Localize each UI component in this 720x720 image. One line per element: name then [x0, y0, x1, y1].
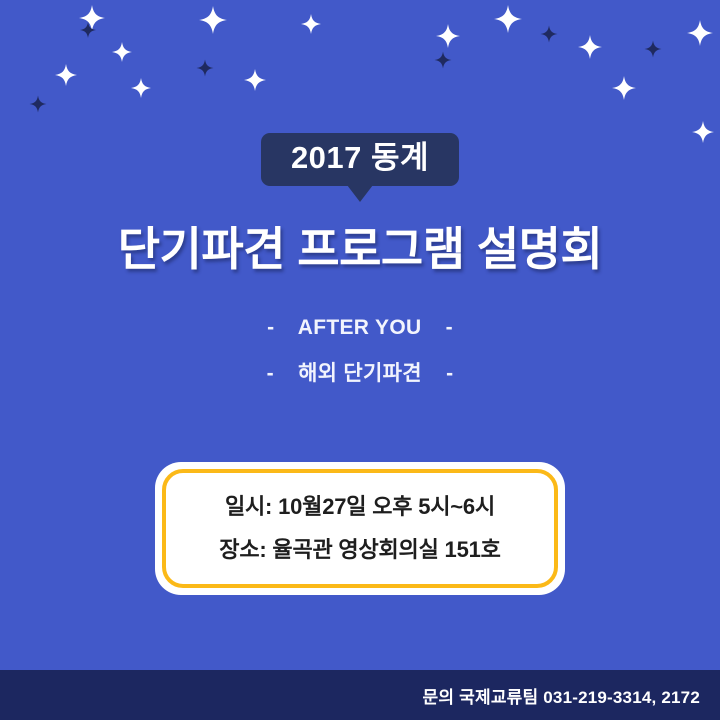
subtitle-text: 해외 단기파견 — [298, 362, 422, 385]
speech-bubble-tail-icon — [347, 185, 373, 202]
event-location: 장소: 율곡관 영상회의실 151호 — [219, 537, 500, 563]
event-datetime: 일시: 10월27일 오후 5시~6시 — [225, 494, 495, 520]
season-badge: 2017 동계 — [261, 133, 459, 186]
sparkle-star-icon — [244, 69, 266, 91]
dash-right: - — [428, 316, 471, 340]
sparkle-star-icon — [30, 96, 47, 113]
subtitle-list: - AFTER YOU - - 해외 단기파견 - — [0, 316, 720, 386]
subtitle-text: AFTER YOU — [298, 316, 422, 339]
sparkle-star-icon — [301, 14, 321, 34]
footer-bar: 문의 국제교류팀 031-219-3314, 2172 — [0, 670, 720, 720]
sparkle-star-icon — [79, 5, 105, 31]
sparkle-star-icon — [80, 22, 96, 38]
sparkle-star-icon — [55, 64, 77, 86]
sparkle-star-icon — [436, 24, 460, 48]
footer-contact-text: 문의 국제교류팀 031-219-3314, 2172 — [423, 683, 700, 708]
sparkle-star-icon — [199, 6, 227, 34]
sparkle-star-icon — [197, 60, 214, 77]
subtitle-line: - AFTER YOU - — [0, 316, 720, 340]
sparkle-star-icon — [541, 26, 558, 43]
sparkle-star-icon — [112, 42, 132, 62]
sparkle-star-icon — [494, 5, 522, 33]
event-details-card: 일시: 10월27일 오후 5시~6시 장소: 율곡관 영상회의실 151호 — [155, 462, 565, 595]
sparkle-star-icon — [131, 78, 151, 98]
sparkle-star-icon — [578, 35, 602, 59]
subtitle-line: - 해외 단기파견 - — [0, 362, 720, 386]
season-badge-label: 2017 동계 — [291, 140, 429, 175]
sparkle-star-icon — [435, 52, 452, 69]
dash-right: - — [428, 362, 471, 386]
sparkle-star-icon — [687, 20, 713, 46]
dash-left: - — [249, 316, 292, 340]
dash-left: - — [249, 362, 292, 386]
season-badge-wrap: 2017 동계 — [0, 133, 720, 202]
sparkle-star-icon — [645, 41, 662, 58]
event-poster: 2017 동계 단기파견 프로그램 설명회 - AFTER YOU - - 해외… — [0, 0, 720, 720]
page-title: 단기파견 프로그램 설명회 — [0, 222, 720, 277]
event-details-box: 일시: 10월27일 오후 5시~6시 장소: 율곡관 영상회의실 151호 — [162, 469, 558, 588]
sparkle-star-icon — [612, 76, 636, 100]
